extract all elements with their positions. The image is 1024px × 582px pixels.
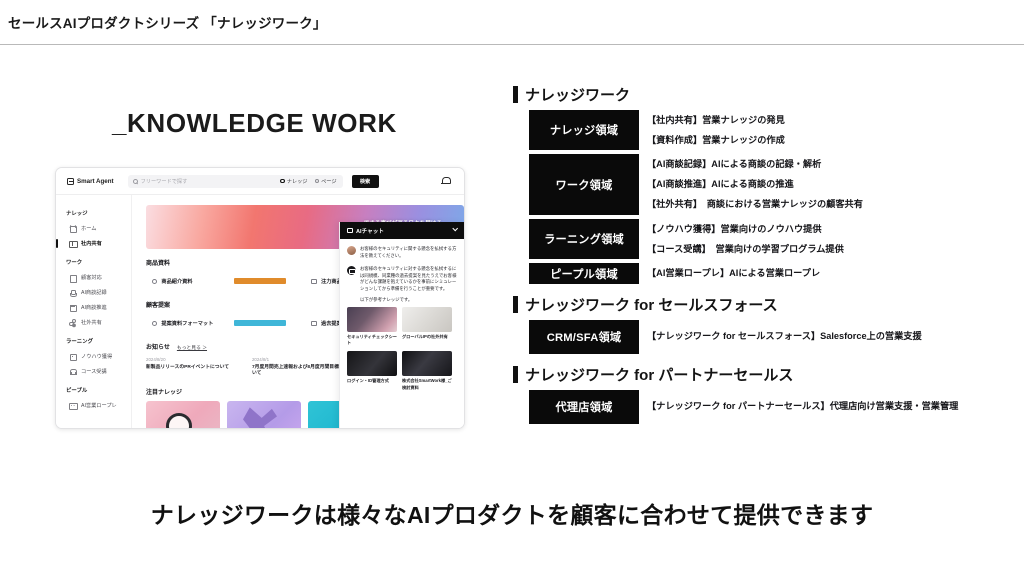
sidebar-item-ai-meeting-record[interactable]: AI商談記録 bbox=[56, 285, 131, 300]
smart-agent-logo-icon bbox=[67, 178, 74, 185]
table-row: ナレッジ領域 【社内共有】営業ナレッジの発見 【資料作成】営業ナレッジの作成 bbox=[529, 110, 1013, 150]
status-badge: CRM/SFA領域 bbox=[529, 320, 639, 354]
row-line: 【ナレッジワーク for セールスフォース】Salesforce上の営業支援 bbox=[647, 327, 1013, 347]
sidebar-group-knowledge: ナレッジ bbox=[66, 209, 131, 217]
reference-caption: 株式会社SmartWork様_ご検討資料 bbox=[402, 378, 452, 390]
sidebar-item-ai-meeting-promotion[interactable]: AI商談推進 bbox=[56, 300, 131, 315]
news-more-link[interactable]: もっと見る ＞ bbox=[177, 344, 207, 351]
sidebar-item-course[interactable]: コース受講 bbox=[56, 364, 131, 379]
table-row: ピープル領域 【AI営業ロープレ】AIによる営業ロープレ bbox=[529, 263, 1013, 283]
row-lines: 【AI営業ロープレ】AIによる営業ロープレ bbox=[647, 263, 1013, 283]
section-rows: 代理店領域 【ナレッジワーク for パートナーセールス】代理店向け営業支援・営… bbox=[529, 390, 1013, 424]
radio-knowledge-icon bbox=[280, 179, 285, 184]
row-line: 【社外共有】 商談における営業ナレッジの顧客共有 bbox=[647, 195, 1013, 215]
list-item[interactable]: グローバルIPの社外共有 bbox=[402, 307, 452, 346]
sidebar-group-work: ワーク bbox=[66, 258, 131, 266]
sidebar-item-knowhow-label: ノウハウ獲得 bbox=[81, 353, 112, 360]
row-line: 【ノウハウ獲得】営業向けのノウハウ提供 bbox=[647, 219, 1013, 239]
section-title-label: ナレッジワーク for セールスフォース bbox=[525, 294, 778, 315]
app-main: できる喜びが巡る日々を届ける Smart Agent 商品資料 商品紹介資料 bbox=[132, 195, 464, 429]
radio-knowledge-label: ナレッジ bbox=[287, 178, 308, 185]
avatar bbox=[347, 246, 356, 255]
sidebar-item-ai-meeting-promotion-label: AI商談推進 bbox=[81, 304, 107, 311]
list-item[interactable]: 2024/8/20 新製品リリースのPRイベントについて bbox=[146, 357, 252, 378]
row-line: 【コース受講】 営業向けの学習プログラム提供 bbox=[647, 239, 1013, 259]
knowledge-work-logo: _KNOWLEDGE WORK bbox=[112, 108, 397, 139]
radio-page-label: ページ bbox=[321, 178, 336, 185]
list-item-label: 提案資料フォーマット bbox=[161, 320, 213, 327]
table-row: 代理店領域 【ナレッジワーク for パートナーセールス】代理店向け営業支援・営… bbox=[529, 390, 1013, 424]
search-button[interactable]: 検索 bbox=[352, 175, 379, 188]
chat-message-bot: お客様のセキュリティに対する懸念を払拭するには同規模、同業種の過去提案を見たうえ… bbox=[347, 266, 457, 292]
bottom-message: ナレッジワークは様々なAIプロダクトを顧客に合わせて提供できます bbox=[0, 496, 1024, 530]
ai-chat-header[interactable]: AIチャット bbox=[340, 222, 464, 239]
section-knowledge-work-partner-sales: ナレッジワーク for パートナーセールス 代理店領域 【ナレッジワーク for… bbox=[513, 364, 1013, 424]
app-brand-label: Smart Agent bbox=[77, 178, 114, 185]
search-placeholder: フリーワードで探す bbox=[141, 178, 188, 185]
list-item[interactable]: 株式会社SmartWork様_ご検討資料 bbox=[402, 351, 452, 390]
box-icon bbox=[69, 353, 76, 360]
home-icon bbox=[69, 225, 76, 232]
app-sidebar: ナレッジ ホーム 社内共有 ワーク 顧客対応 AI商談記録 bbox=[56, 195, 132, 429]
row-line: 【AI営業ロープレ】AIによる営業ロープレ bbox=[647, 263, 1013, 283]
section-knowledge-work: ナレッジワーク ナレッジ領域 【社内共有】営業ナレッジの発見 【資料作成】営業ナ… bbox=[513, 84, 1013, 284]
section-title: ナレッジワーク for パートナーセールス bbox=[513, 364, 1013, 385]
section-marker bbox=[513, 296, 518, 313]
row-line: 【ナレッジワーク for パートナーセールス】代理店向け営業支援・営業管理 bbox=[647, 397, 1013, 417]
chat-message-text: お客様のセキュリティに対する懸念を払拭するには同規模、同業種の過去提案を見たうえ… bbox=[360, 266, 457, 292]
list-item[interactable]: 商品紹介資料 bbox=[146, 272, 305, 291]
table-row: ワーク領域 【AI商談記録】AIによる商談の記録・解析 【AI商談推進】AIによ… bbox=[529, 154, 1013, 215]
news-title: 新製品リリースのPRイベントについて bbox=[146, 365, 244, 372]
row-line: 【AI商談記録】AIによる商談の記録・解析 bbox=[647, 154, 1013, 174]
reference-caption: ログイン・ID管理方式 bbox=[347, 378, 397, 384]
row-line: 【資料作成】営業ナレッジの作成 bbox=[647, 130, 1013, 150]
list-item-label: 商品紹介資料 bbox=[161, 278, 192, 285]
book-icon bbox=[69, 240, 76, 247]
certificate-icon bbox=[69, 368, 76, 375]
section-heading-news: お知らせ bbox=[146, 342, 170, 351]
reference-thumbnail bbox=[347, 351, 397, 376]
row-line: 【AI商談推進】AIによる商談の推進 bbox=[647, 175, 1013, 195]
section-title-label: ナレッジワーク for パートナーセールス bbox=[525, 364, 793, 385]
sidebar-item-home-label: ホーム bbox=[81, 225, 96, 232]
file-icon bbox=[311, 279, 317, 284]
radio-page[interactable]: ページ bbox=[315, 178, 337, 185]
people-icon bbox=[69, 402, 76, 409]
microphone-icon bbox=[69, 289, 76, 296]
status-badge: ワーク領域 bbox=[529, 154, 639, 215]
section-title: ナレッジワーク bbox=[513, 84, 1013, 105]
chat-reference-list: セキュリティチェックシート グローバルIPの社外共有 ログイン・ID管理方式 bbox=[347, 307, 457, 390]
file-icon bbox=[311, 321, 317, 326]
section-marker bbox=[513, 86, 518, 103]
section-rows: ナレッジ領域 【社内共有】営業ナレッジの発見 【資料作成】営業ナレッジの作成 ワ… bbox=[529, 110, 1013, 284]
sidebar-item-customer-support-label: 顧客対応 bbox=[81, 274, 102, 281]
sidebar-item-course-label: コース受講 bbox=[81, 368, 107, 375]
featured-card[interactable] bbox=[227, 401, 301, 429]
table-row: CRM/SFA領域 【ナレッジワーク for セールスフォース】Salesfor… bbox=[529, 320, 1013, 354]
share-icon bbox=[69, 319, 76, 326]
chat-message-tail: 以下が参考ナレッジです。 bbox=[360, 297, 457, 304]
news-date: 2024/8/1 bbox=[252, 357, 350, 362]
page-title: セールスAIプロダクトシリーズ 「ナレッジワーク」 bbox=[8, 12, 327, 32]
file-icon bbox=[152, 321, 157, 326]
chevron-down-icon[interactable] bbox=[452, 226, 458, 232]
status-badge: 代理店領域 bbox=[529, 390, 639, 424]
sidebar-item-ai-roleplay[interactable]: AI営業ロープレ bbox=[56, 398, 131, 413]
sidebar-item-ai-roleplay-label: AI営業ロープレ bbox=[81, 402, 117, 409]
sidebar-group-people: ピープル bbox=[66, 386, 131, 394]
reference-caption: グローバルIPの社外共有 bbox=[402, 334, 452, 340]
section-title: ナレッジワーク for セールスフォース bbox=[513, 294, 1013, 315]
section-rows: CRM/SFA領域 【ナレッジワーク for セールスフォース】Salesfor… bbox=[529, 320, 1013, 354]
list-item[interactable]: ログイン・ID管理方式 bbox=[347, 351, 397, 390]
sidebar-item-internal-share[interactable]: 社内共有 bbox=[56, 236, 131, 251]
search-icon bbox=[133, 179, 138, 184]
news-title: 7月度月間売上速報および8月度月間目標について bbox=[252, 365, 350, 379]
section-knowledge-work-salesforce: ナレッジワーク for セールスフォース CRM/SFA領域 【ナレッジワーク … bbox=[513, 294, 1013, 354]
ai-chat-messages: お客様のセキュリティに関する懸念を払拭する方法を教えてください。 お客様のセキュ… bbox=[340, 239, 464, 429]
ai-chat-title: AIチャット bbox=[356, 227, 384, 235]
section-marker bbox=[513, 366, 518, 383]
ai-chat-panel: AIチャット お客様のセキュリティに関する懸念を払拭する方法を教えてください。 … bbox=[339, 222, 464, 429]
radio-page-icon bbox=[315, 179, 320, 184]
reference-thumbnail bbox=[347, 307, 397, 332]
status-badge: ナレッジ領域 bbox=[529, 110, 639, 150]
sidebar-group-learning: ラーニング bbox=[66, 337, 131, 345]
offerings-column: ナレッジワーク ナレッジ領域 【社内共有】営業ナレッジの発見 【資料作成】営業ナ… bbox=[513, 84, 1013, 428]
row-lines: 【社内共有】営業ナレッジの発見 【資料作成】営業ナレッジの作成 bbox=[647, 110, 1013, 150]
news-date: 2024/8/20 bbox=[146, 357, 244, 362]
sidebar-item-knowhow[interactable]: ノウハウ獲得 bbox=[56, 349, 131, 364]
app-topbar: Smart Agent フリーワードで探す ナレッジ ページ 検索 bbox=[56, 168, 464, 195]
sidebar-item-ai-meeting-record-label: AI商談記録 bbox=[81, 289, 107, 296]
row-lines: 【AI商談記録】AIによる商談の記録・解析 【AI商談推進】AIによる商談の推進… bbox=[647, 154, 1013, 215]
file-icon bbox=[152, 279, 157, 284]
chat-bubble-icon bbox=[347, 228, 353, 233]
search-scope-radios: ナレッジ ページ bbox=[280, 178, 336, 185]
product-screenshot: Smart Agent フリーワードで探す ナレッジ ページ 検索 bbox=[55, 167, 465, 429]
reference-thumbnail bbox=[402, 351, 452, 376]
sidebar-item-home[interactable]: ホーム bbox=[56, 221, 131, 236]
row-lines: 【ナレッジワーク for パートナーセールス】代理店向け営業支援・営業管理 bbox=[647, 390, 1013, 424]
app-body: ナレッジ ホーム 社内共有 ワーク 顧客対応 AI商談記録 bbox=[56, 195, 464, 429]
thumbnail bbox=[234, 278, 286, 284]
slide-root: セールスAIプロダクトシリーズ 「ナレッジワーク」 _KNOWLEDGE WOR… bbox=[0, 0, 1024, 582]
section-title-label: ナレッジワーク bbox=[525, 84, 630, 105]
featured-card[interactable] bbox=[146, 401, 220, 429]
status-badge: ピープル領域 bbox=[529, 263, 639, 283]
search-input[interactable]: フリーワードで探す ナレッジ ページ bbox=[128, 175, 343, 188]
chat-message-text: お客様のセキュリティに関する懸念を払拭する方法を教えてください。 bbox=[360, 246, 457, 259]
calendar-icon bbox=[69, 304, 76, 311]
sidebar-item-internal-share-label: 社内共有 bbox=[81, 240, 102, 247]
table-row: ラーニング領域 【ノウハウ獲得】営業向けのノウハウ提供 【コース受講】 営業向け… bbox=[529, 219, 1013, 259]
list-item[interactable]: 提案資料フォーマット bbox=[146, 314, 305, 333]
bot-avatar-icon bbox=[347, 266, 356, 275]
header-divider bbox=[0, 44, 1024, 45]
sidebar-item-external-share[interactable]: 社外共有 bbox=[56, 315, 131, 330]
row-lines: 【ノウハウ獲得】営業向けのノウハウ提供 【コース受講】 営業向けの学習プログラム… bbox=[647, 219, 1013, 259]
sidebar-item-external-share-label: 社外共有 bbox=[81, 319, 102, 326]
list-item[interactable]: セキュリティチェックシート bbox=[347, 307, 397, 346]
row-lines: 【ナレッジワーク for セールスフォース】Salesforce上の営業支援 bbox=[647, 320, 1013, 354]
bell-icon[interactable] bbox=[441, 177, 450, 186]
row-line: 【社内共有】営業ナレッジの発見 bbox=[647, 110, 1013, 130]
reference-thumbnail bbox=[402, 307, 452, 332]
document-icon bbox=[69, 274, 76, 281]
thumbnail bbox=[234, 320, 286, 326]
status-badge: ラーニング領域 bbox=[529, 219, 639, 259]
sidebar-item-customer-support[interactable]: 顧客対応 bbox=[56, 270, 131, 285]
radio-knowledge[interactable]: ナレッジ bbox=[280, 178, 307, 185]
app-brand: Smart Agent bbox=[67, 178, 114, 185]
chat-message-user: お客様のセキュリティに関する懸念を払拭する方法を教えてください。 bbox=[347, 246, 457, 259]
reference-caption: セキュリティチェックシート bbox=[347, 334, 397, 346]
